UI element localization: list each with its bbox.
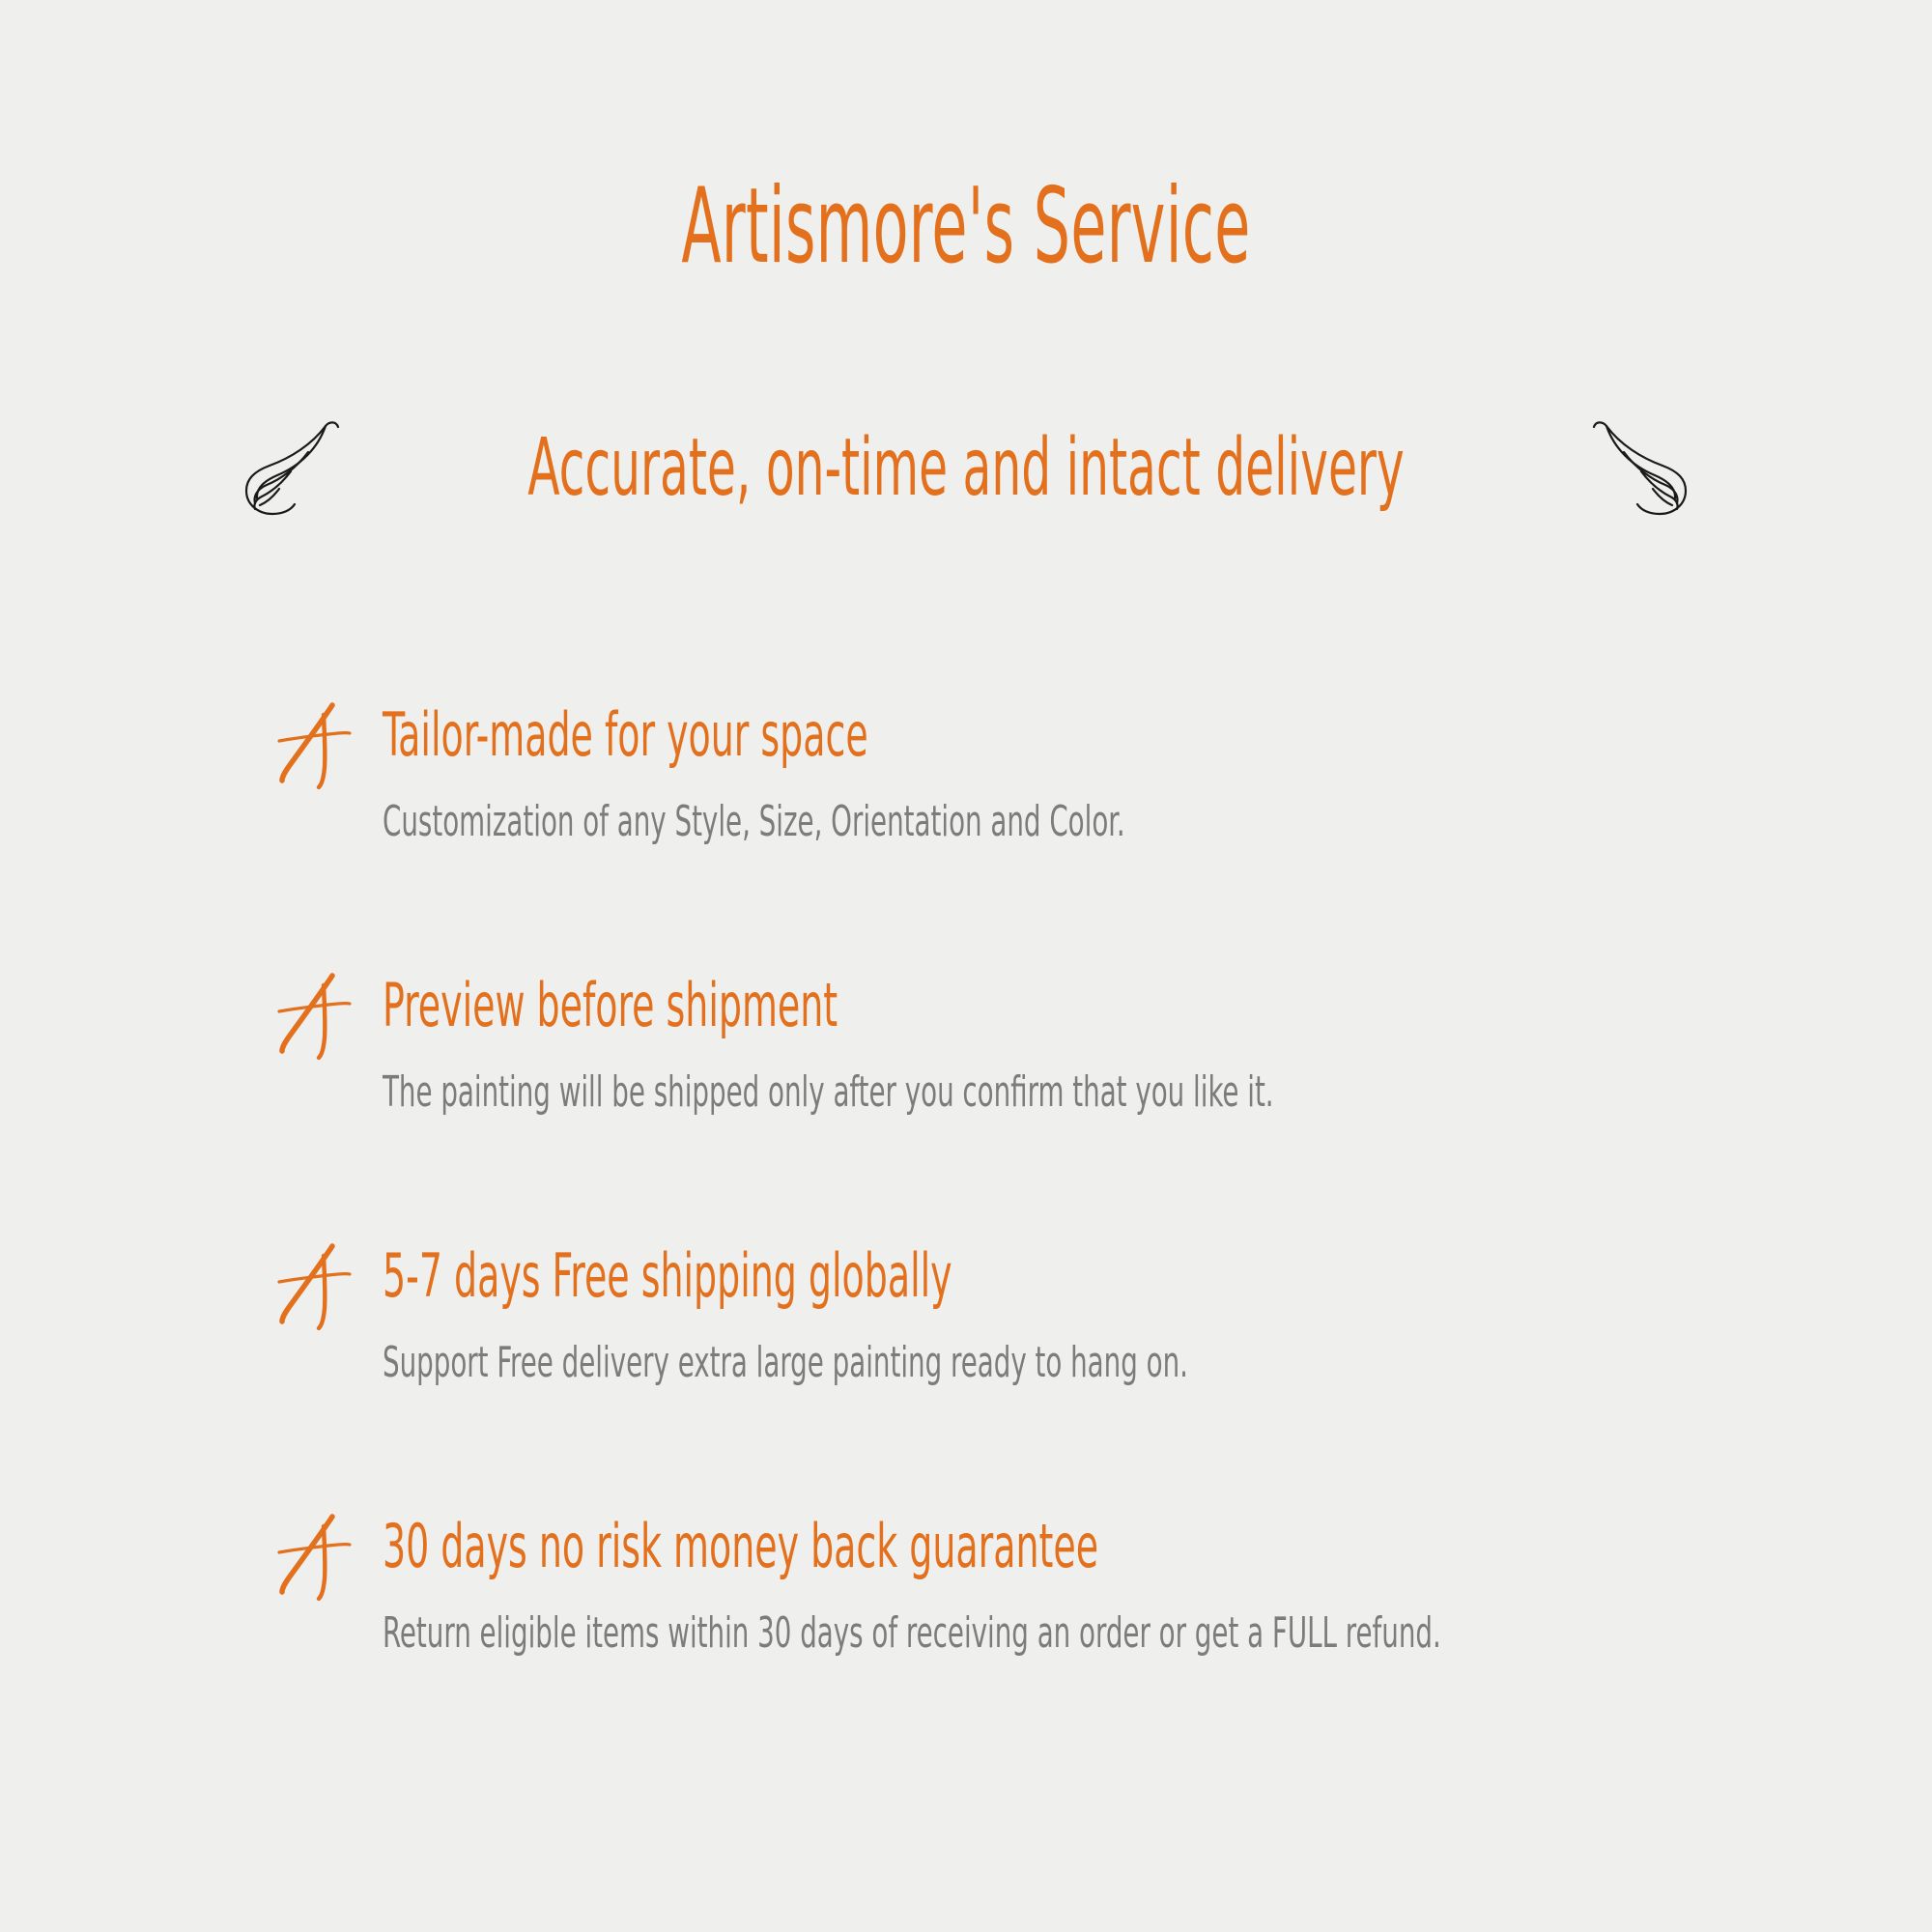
feature-description: Support Free delivery extra large painti… — [383, 1335, 1188, 1390]
list-item: Tailor-made for your space Customization… — [276, 697, 1899, 968]
feature-description: The painting will be shipped only after … — [383, 1065, 1274, 1120]
feature-title: 30 days no risk money back guarantee — [383, 1509, 1098, 1584]
list-item: 30 days no risk money back guarantee Ret… — [276, 1509, 1899, 1779]
feature-title: Preview before shipment — [383, 968, 838, 1043]
wing-icon — [1576, 415, 1691, 522]
subtitle-row: Accurate, on-time and intact delivery — [0, 415, 1932, 522]
feature-title: 5-7 days Free shipping globally — [383, 1238, 952, 1314]
feature-description: Return eligible items within 30 days of … — [383, 1605, 1441, 1661]
feature-description: Customization of any Style, Size, Orient… — [383, 794, 1125, 849]
script-a-icon — [276, 1240, 354, 1333]
list-item: Preview before shipment The painting wil… — [276, 968, 1899, 1238]
page-title: Artismore's Service — [367, 172, 1565, 281]
wing-icon — [241, 415, 356, 522]
script-a-icon — [276, 699, 354, 792]
page-subtitle: Accurate, on-time and intact delivery — [377, 425, 1556, 512]
service-info-page: Artismore's Service Accurate, on-time an… — [0, 0, 1932, 1932]
script-a-icon — [276, 970, 354, 1063]
feature-title: Tailor-made for your space — [383, 697, 868, 773]
script-a-icon — [276, 1511, 354, 1604]
feature-list: Tailor-made for your space Customization… — [276, 697, 1899, 1779]
list-item: 5-7 days Free shipping globally Support … — [276, 1238, 1899, 1509]
